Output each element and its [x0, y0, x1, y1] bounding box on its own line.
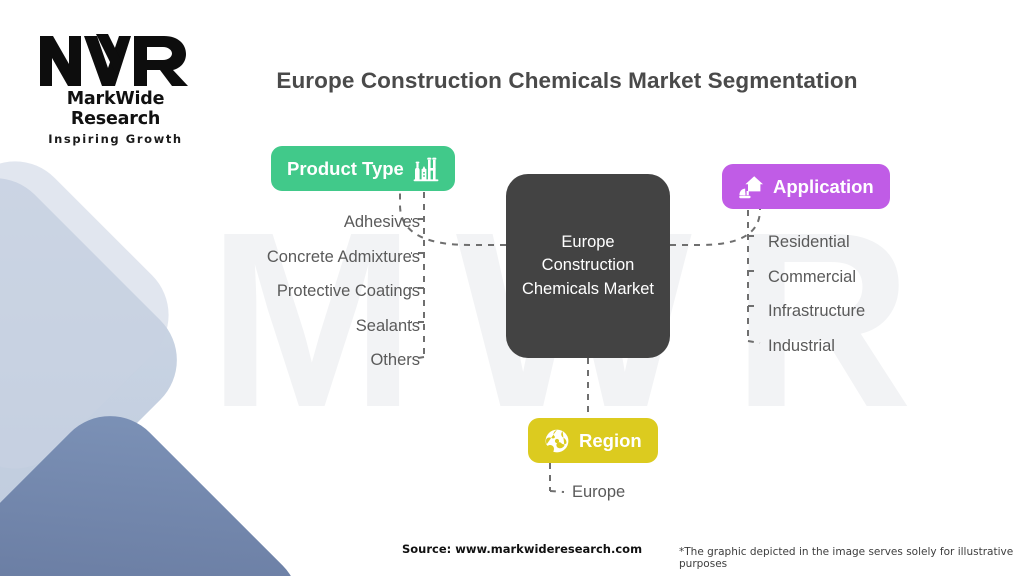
- branch-label-product-type: Product Type: [287, 158, 404, 180]
- factory-icon: [413, 156, 439, 182]
- leaf-item[interactable]: Sealants: [180, 309, 420, 344]
- house-growth-icon: [738, 174, 764, 200]
- leaf-item[interactable]: Adhesives: [180, 205, 420, 240]
- branch-badge-region[interactable]: Region: [528, 418, 658, 463]
- leaf-item[interactable]: Others: [180, 343, 420, 378]
- globe-icon: [544, 428, 570, 454]
- leaf-item[interactable]: Concrete Admixtures: [180, 240, 420, 275]
- decorative-shape-light-2: [0, 138, 192, 492]
- leaf-list-product-type: Adhesives Concrete Admixtures Protective…: [180, 205, 420, 378]
- branch-label-region: Region: [579, 430, 642, 452]
- leaf-tick-app-4: [748, 341, 760, 343]
- source-label: Source: www.markwideresearch.com: [402, 542, 642, 556]
- page-title: Europe Construction Chemicals Market Seg…: [0, 68, 1024, 94]
- leaf-item[interactable]: Europe: [572, 480, 732, 504]
- leaf-item[interactable]: Residential: [768, 225, 998, 260]
- leaf-item[interactable]: Protective Coatings: [180, 274, 420, 309]
- leaf-tick-region-1: [550, 491, 564, 492]
- branch-label-application: Application: [773, 176, 874, 198]
- branch-badge-product-type[interactable]: Product Type: [271, 146, 455, 191]
- decorative-shape-light: [0, 155, 200, 565]
- infographic-canvas: MWR MarkWide Research Inspiring Growth E…: [0, 0, 1024, 576]
- branch-badge-application[interactable]: Application: [722, 164, 890, 209]
- decorative-shape-dark: [0, 393, 322, 576]
- leaf-item[interactable]: Infrastructure: [768, 294, 998, 329]
- core-node[interactable]: Europe Construction Chemicals Market: [506, 174, 670, 358]
- leaf-list-region: Europe: [572, 480, 732, 504]
- disclaimer-label: *The graphic depicted in the image serve…: [679, 546, 1024, 570]
- core-node-label: Europe Construction Chemicals Market: [516, 231, 660, 302]
- leaf-list-application: Residential Commercial Infrastructure In…: [768, 225, 998, 363]
- leaf-item[interactable]: Commercial: [768, 260, 998, 295]
- leaf-item[interactable]: Industrial: [768, 329, 998, 364]
- logo-tagline: Inspiring Growth: [28, 132, 203, 146]
- logo-company-name: MarkWide Research: [28, 89, 203, 129]
